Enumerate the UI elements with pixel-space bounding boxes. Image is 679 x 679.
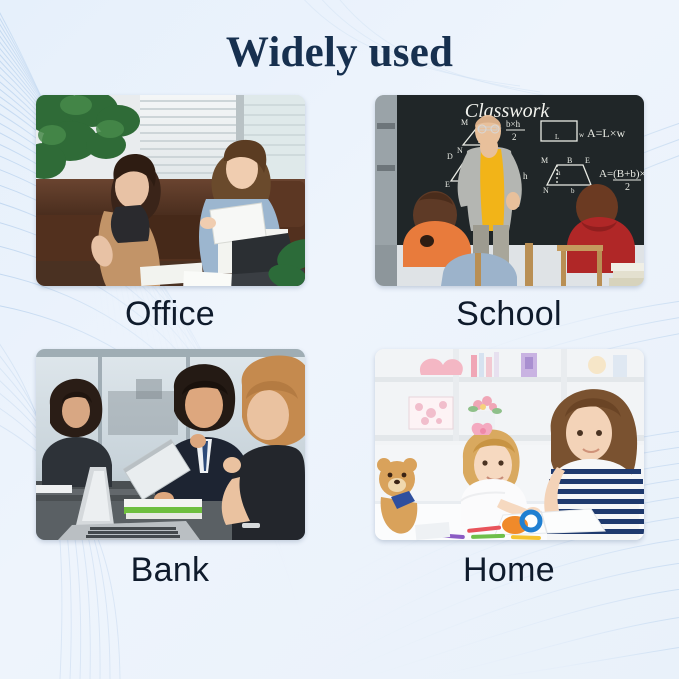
use-case-card-school[interactable]: Classwork N M = b×h 2 xyxy=(375,95,644,336)
svg-text:L: L xyxy=(555,133,559,141)
card-label-school: School xyxy=(456,293,562,336)
use-case-grid: Office xyxy=(36,95,644,591)
svg-text:M: M xyxy=(461,118,468,127)
svg-text:2: 2 xyxy=(512,132,517,142)
bank-photo xyxy=(36,349,305,540)
use-case-card-home[interactable]: Home xyxy=(375,349,644,592)
use-case-card-office[interactable]: Office xyxy=(36,95,305,336)
school-photo: Classwork N M = b×h 2 xyxy=(375,95,644,286)
card-label-home: Home xyxy=(463,549,555,592)
svg-text:B: B xyxy=(567,156,572,165)
svg-text:h: h xyxy=(523,171,528,181)
card-label-bank: Bank xyxy=(131,549,210,592)
svg-text:b: b xyxy=(571,187,575,195)
svg-text:E: E xyxy=(585,156,590,165)
svg-text:b×h: b×h xyxy=(506,119,521,129)
office-photo xyxy=(36,95,305,286)
widely-used-section: Widely used xyxy=(0,0,679,679)
svg-text:2: 2 xyxy=(625,182,630,193)
home-photo xyxy=(375,349,644,540)
svg-text:N: N xyxy=(457,146,463,155)
svg-text:D: D xyxy=(447,152,453,161)
svg-text:M: M xyxy=(541,156,548,165)
svg-text:A=(B+b)×h: A=(B+b)×h xyxy=(599,168,644,180)
svg-text:h: h xyxy=(557,169,561,177)
svg-text:N: N xyxy=(543,186,549,195)
card-label-office: Office xyxy=(125,293,215,336)
page-title: Widely used xyxy=(226,28,453,77)
svg-text:A=L×w: A=L×w xyxy=(587,126,626,140)
use-case-card-bank[interactable]: Bank xyxy=(36,349,305,592)
svg-text:E: E xyxy=(445,180,450,189)
